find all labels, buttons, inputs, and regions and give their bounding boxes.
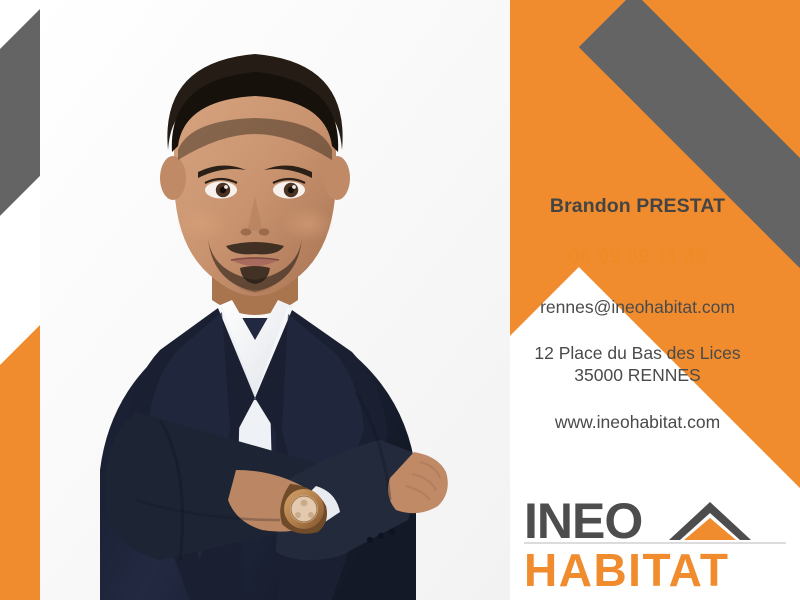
logo-word-ineo: INEO bbox=[524, 493, 642, 549]
address-line-2: 35000 RENNES bbox=[500, 365, 775, 387]
website-url[interactable]: www.ineohabitat.com bbox=[500, 412, 775, 432]
portrait-photo bbox=[40, 0, 510, 600]
address-line-1: 12 Place du Bas des Lices bbox=[500, 343, 775, 365]
business-card: Brandon PRESTAT 06 09 09 11 38 rennes@in… bbox=[0, 0, 800, 600]
ineo-habitat-logo: INEO HABITAT bbox=[524, 486, 786, 590]
roof-house-icon bbox=[669, 502, 751, 540]
email-address[interactable]: rennes@ineohabitat.com bbox=[500, 297, 775, 317]
person-name: Brandon PRESTAT bbox=[500, 196, 775, 217]
logo-word-habitat: HABITAT bbox=[524, 544, 730, 590]
phone-number[interactable]: 06 09 09 11 38 bbox=[500, 245, 775, 268]
postal-address: 12 Place du Bas des Lices 35000 RENNES bbox=[500, 343, 775, 387]
contact-details: Brandon PRESTAT 06 09 09 11 38 rennes@in… bbox=[500, 196, 775, 433]
